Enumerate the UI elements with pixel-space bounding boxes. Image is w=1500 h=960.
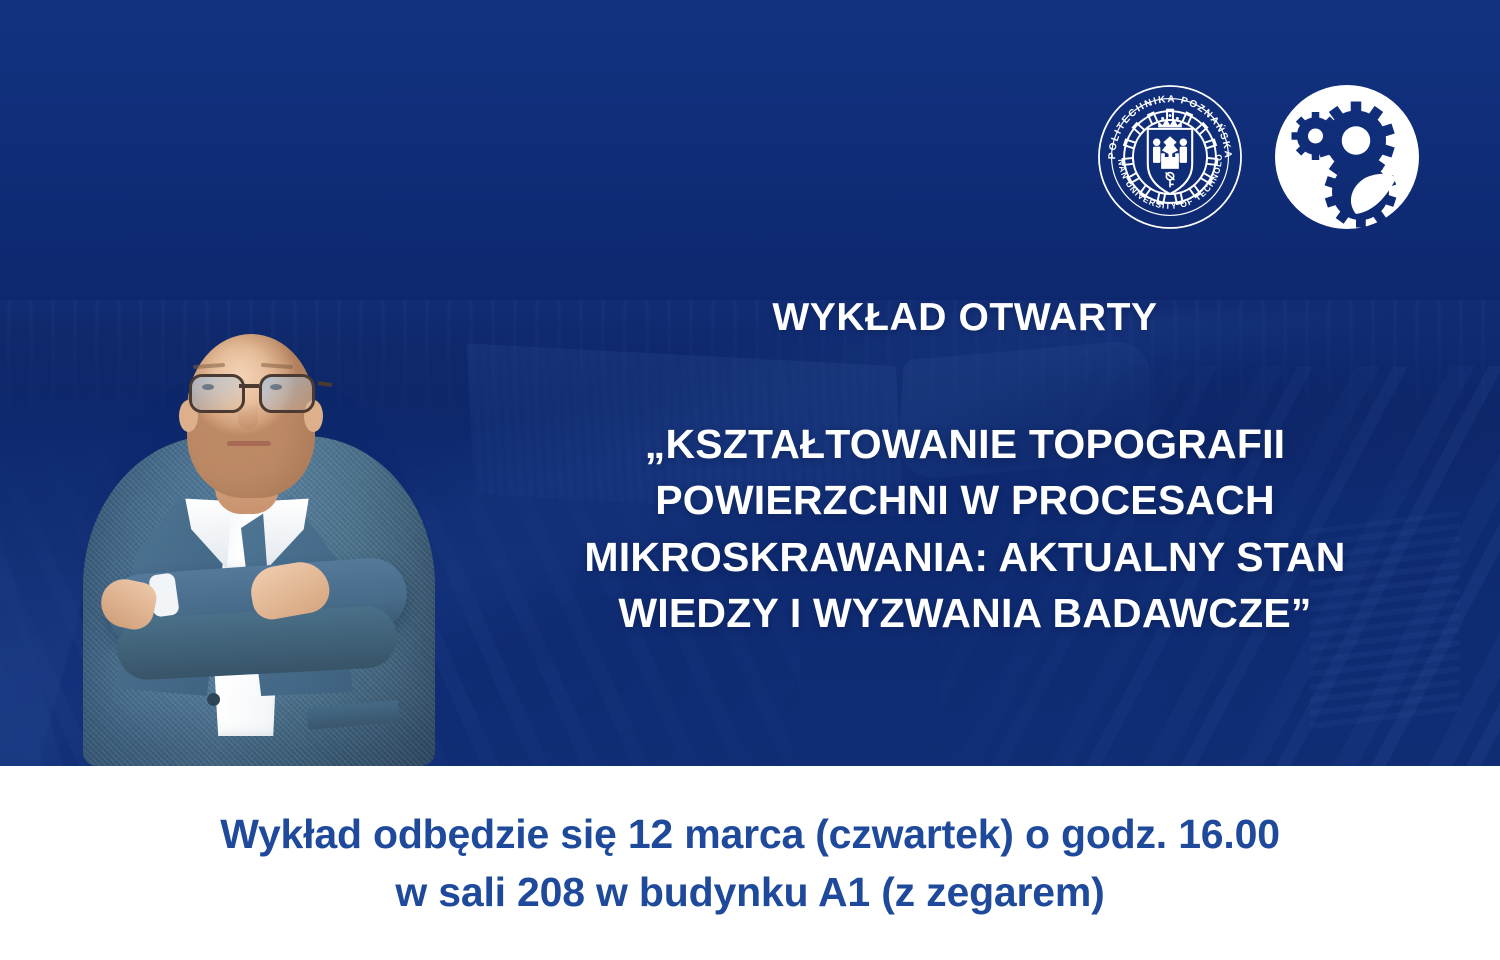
logo-group: POLITECHNIKA POZNAŃSKA POZNAN UNIVERSITY… <box>1096 82 1422 232</box>
lecturer-portrait <box>55 221 455 766</box>
poster-kicker: WYKŁAD OTWARTY <box>500 296 1430 340</box>
hero-text-block: WYKŁAD OTWARTY „KSZTAŁTOWANIE TOPOGRAFII… <box>500 296 1430 642</box>
lecture-title-line-2: POWIERZCHNI W PROCESACH <box>500 472 1430 529</box>
portrait-jacket-button <box>207 693 220 706</box>
glasses-lens-right <box>259 374 315 413</box>
footer-details: Wykład odbędzie się 12 marca (czwartek) … <box>0 766 1500 960</box>
glasses-temple <box>318 381 332 386</box>
footer-line-datetime: Wykład odbędzie się 12 marca (czwartek) … <box>220 805 1280 863</box>
portrait-nose <box>238 404 258 430</box>
glasses-bridge <box>239 384 259 388</box>
poster-root: POLITECHNIKA POZNAŃSKA POZNAN UNIVERSITY… <box>0 0 1500 960</box>
lecture-title-line-1: „KSZTAŁTOWANIE TOPOGRAFII <box>500 416 1430 473</box>
portrait-mouth <box>227 441 271 446</box>
lecture-title-line-4: WIEDZY I WYZWANIA BADAWCZE” <box>500 585 1430 642</box>
faculty-of-mechanical-engineering-gears-logo <box>1272 82 1422 232</box>
footer-line-location: w sali 208 w budynku A1 (z zegarem) <box>395 863 1104 921</box>
lecture-title: „KSZTAŁTOWANIE TOPOGRAFII POWIERZCHNI W … <box>500 416 1430 642</box>
lecture-title-line-3: MIKROSKRAWANIA: AKTUALNY STAN <box>500 529 1430 586</box>
hero-banner: POLITECHNIKA POZNAŃSKA POZNAN UNIVERSITY… <box>0 0 1500 766</box>
poznan-university-of-technology-logo: POLITECHNIKA POZNAŃSKA POZNAN UNIVERSITY… <box>1096 83 1244 231</box>
glasses-lens-left <box>189 374 245 413</box>
portrait-glasses <box>181 374 323 408</box>
